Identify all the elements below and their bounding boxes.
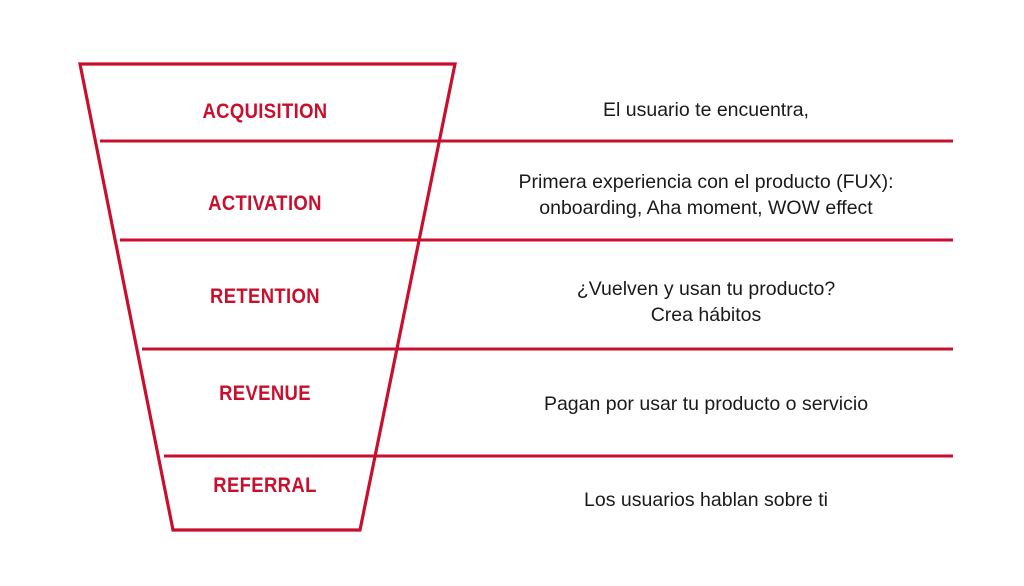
stage-label-activation: ACTIVATION bbox=[168, 192, 362, 215]
description-line: Crea hábitos bbox=[465, 303, 947, 329]
description-line: ¿Vuelven y usan tu producto? bbox=[465, 277, 947, 303]
stage-label-retention: RETENTION bbox=[168, 285, 362, 308]
stage-label-referral: REFERRAL bbox=[168, 474, 362, 497]
stage-description-activation: Primera experiencia con el producto (FUX… bbox=[465, 170, 947, 221]
description-line: onboarding, Aha moment, WOW effect bbox=[465, 196, 947, 222]
stage-label-revenue: REVENUE bbox=[168, 382, 362, 405]
stage-description-revenue: Pagan por usar tu producto o servicio bbox=[465, 392, 947, 418]
stage-description-retention: ¿Vuelven y usan tu producto? Crea hábito… bbox=[465, 277, 947, 328]
description-line: Pagan por usar tu producto o servicio bbox=[465, 392, 947, 418]
description-line: El usuario te encuentra, bbox=[465, 98, 947, 124]
stage-description-acquisition: El usuario te encuentra, bbox=[465, 98, 947, 124]
stage-description-referral: Los usuarios hablan sobre ti bbox=[465, 488, 947, 514]
description-line: Primera experiencia con el producto (FUX… bbox=[465, 170, 947, 196]
description-line: Los usuarios hablan sobre ti bbox=[465, 488, 947, 514]
funnel-diagram-canvas: ACQUISITION ACTIVATION RETENTION REVENUE… bbox=[0, 0, 1024, 586]
stage-label-acquisition: ACQUISITION bbox=[168, 100, 362, 123]
